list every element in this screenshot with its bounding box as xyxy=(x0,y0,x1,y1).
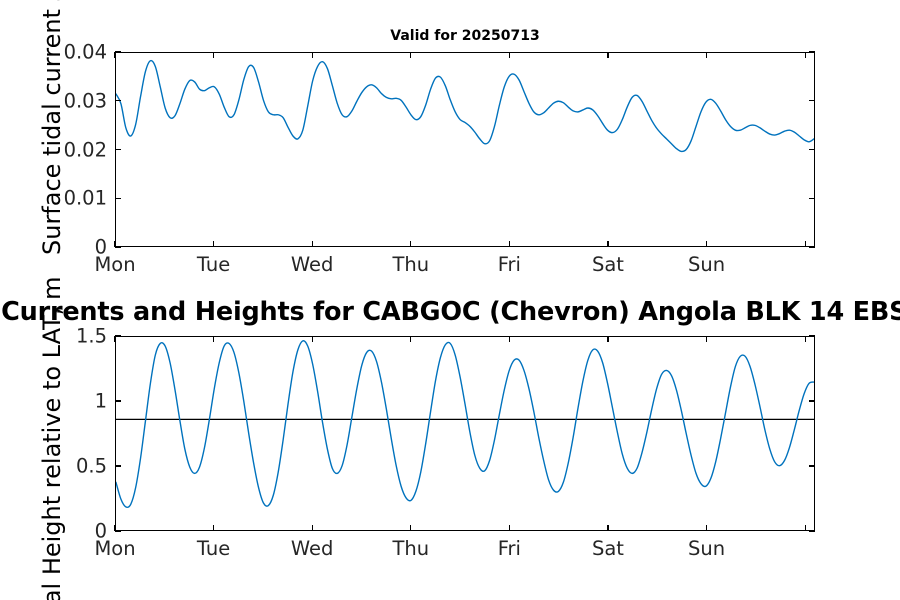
ytick-label: 0.04 xyxy=(0,42,107,62)
xtick-top xyxy=(410,336,411,342)
ytick-right xyxy=(809,149,815,150)
ytick xyxy=(115,335,121,336)
ytick xyxy=(115,51,121,52)
ytick-label: 0 xyxy=(0,521,107,541)
xtick-top xyxy=(509,336,510,342)
ytick-label: 0 xyxy=(0,237,107,257)
ytick xyxy=(115,246,121,247)
xtick-label: Mon xyxy=(94,255,135,275)
ytick-right xyxy=(809,246,815,247)
bottom-chart-line-series xyxy=(116,337,814,530)
ytick-label: 0.02 xyxy=(0,140,107,160)
xtick-label: Thu xyxy=(392,255,429,275)
xtick xyxy=(114,525,115,531)
figure-canvas: Surface tidal current speed, kn Tidal He… xyxy=(0,0,900,600)
xtick-top xyxy=(114,52,115,58)
xtick-label: Sat xyxy=(592,539,624,559)
xtick-label: Sat xyxy=(592,255,624,275)
series-top xyxy=(116,61,814,152)
xtick xyxy=(607,525,608,531)
ytick xyxy=(115,400,121,401)
xtick-top xyxy=(213,52,214,58)
ytick-label: 1.5 xyxy=(0,326,107,346)
ytick xyxy=(115,465,121,466)
xtick-label: Thu xyxy=(392,539,429,559)
xtick xyxy=(805,241,806,247)
xtick-label: Mon xyxy=(94,539,135,559)
xtick-top xyxy=(607,52,608,58)
xtick xyxy=(805,525,806,531)
xtick-top xyxy=(312,336,313,342)
top-chart-title: Valid for 20250713 xyxy=(390,28,539,44)
xtick xyxy=(114,241,115,247)
ytick xyxy=(115,149,121,150)
top-chart-line-series xyxy=(116,53,814,246)
xtick-top xyxy=(607,336,608,342)
xtick-label: Tue xyxy=(197,255,230,275)
xtick-top xyxy=(114,336,115,342)
xtick xyxy=(410,525,411,531)
xtick-top xyxy=(805,336,806,342)
xtick-label: Wed xyxy=(291,255,334,275)
ytick xyxy=(115,530,121,531)
ytick-right xyxy=(809,465,815,466)
xtick-top xyxy=(213,336,214,342)
ytick-right xyxy=(809,51,815,52)
ytick xyxy=(115,100,121,101)
xtick xyxy=(607,241,608,247)
xtick-label: Wed xyxy=(291,539,334,559)
xtick-label: Sun xyxy=(688,255,725,275)
ytick-label: 0.03 xyxy=(0,91,107,111)
ytick xyxy=(115,198,121,199)
xtick xyxy=(509,525,510,531)
ytick-right xyxy=(809,530,815,531)
series-bottom xyxy=(116,341,814,508)
xtick xyxy=(312,525,313,531)
top-chart-plot-area xyxy=(115,52,815,247)
xtick-top xyxy=(706,336,707,342)
xtick-label: Sun xyxy=(688,539,725,559)
ytick-label: 1 xyxy=(0,391,107,411)
ytick-label: 0.5 xyxy=(0,456,107,476)
ytick-right xyxy=(809,198,815,199)
xtick-top xyxy=(410,52,411,58)
top-chart-ylabel: Surface tidal current speed, kn xyxy=(38,0,66,255)
figure-main-title: Surface Tidal Currents and Heights for C… xyxy=(0,297,900,327)
xtick xyxy=(706,525,707,531)
xtick-top xyxy=(509,52,510,58)
xtick xyxy=(706,241,707,247)
xtick-top xyxy=(312,52,313,58)
xtick-label: Fri xyxy=(498,539,521,559)
xtick xyxy=(312,241,313,247)
xtick-top xyxy=(805,52,806,58)
xtick xyxy=(213,241,214,247)
xtick-top xyxy=(706,52,707,58)
ytick-right xyxy=(809,100,815,101)
ytick-right xyxy=(809,335,815,336)
ytick-right xyxy=(809,400,815,401)
ytick-label: 0.01 xyxy=(0,189,107,209)
xtick xyxy=(213,525,214,531)
xtick-label: Tue xyxy=(197,539,230,559)
xtick xyxy=(410,241,411,247)
xtick xyxy=(509,241,510,247)
bottom-chart-plot-area xyxy=(115,336,815,531)
xtick-label: Fri xyxy=(498,255,521,275)
